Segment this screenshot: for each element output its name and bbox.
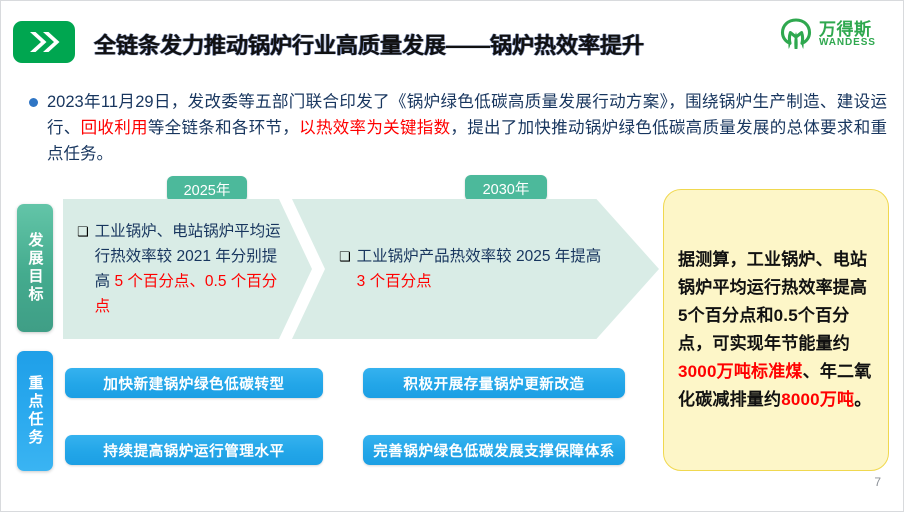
- timeline-stage-2025-text: 工业锅炉、电站锅炉平均运行热效率较 2021 年分别提高 5 个百分点、0.5 …: [95, 219, 285, 319]
- section-tab-key-tasks: 重点任务: [17, 351, 53, 471]
- checkbox-square-icon: ❑: [77, 219, 89, 244]
- intro-paragraph: 2023年11月29日，发改委等五部门联合印发了《锅炉绿色低碳高质量发展行动方案…: [47, 89, 887, 167]
- checkbox-square-icon: ❑: [339, 244, 351, 269]
- logo-name-en: WANDESS: [819, 37, 876, 48]
- page-title: 全链条发力推动锅炉行业高质量发展——锅炉热效率提升: [94, 28, 644, 60]
- brand-logo: 万得斯 WANDESS: [773, 13, 891, 59]
- impact-callout-text: 据测算，工业锅炉、电站锅炉平均运行热效率提高5个百分点和0.5个百分点，可实现年…: [664, 246, 888, 414]
- section-tab-goal-label: 发展目标: [26, 232, 45, 304]
- wandess-leaf-logo-icon: [777, 16, 815, 54]
- bullet-dot-icon: [29, 98, 38, 107]
- task-pill-2[interactable]: 积极开展存量锅炉更新改造: [363, 368, 625, 398]
- section-tab-task-label: 重点任务: [26, 375, 45, 447]
- timeline-arrow-banner: ❑ 工业锅炉、电站锅炉平均运行热效率较 2021 年分别提高 5 个百分点、0.…: [63, 199, 659, 339]
- timeline-stage-2030: ❑ 工业锅炉产品热效率较 2025 年提高 3 个百分点: [325, 199, 615, 339]
- task-pill-3[interactable]: 持续提高锅炉运行管理水平: [65, 435, 323, 465]
- footer-divider: [1, 505, 904, 511]
- slide-canvas: 全链条发力推动锅炉行业高质量发展——锅炉热效率提升 万得斯 WANDESS 20…: [0, 0, 904, 512]
- slide-header: 全链条发力推动锅炉行业高质量发展——锅炉热效率提升 万得斯 WANDESS: [1, 1, 904, 77]
- timeline-stage-2025: ❑ 工业锅炉、电站锅炉平均运行热效率较 2021 年分别提高 5 个百分点、0.…: [63, 199, 295, 339]
- task-pill-1[interactable]: 加快新建锅炉绿色低碳转型: [65, 368, 323, 398]
- timeline-stage-2030-text: 工业锅炉产品热效率较 2025 年提高 3 个百分点: [357, 244, 605, 294]
- task-pill-4[interactable]: 完善锅炉绿色低碳发展支撑保障体系: [363, 435, 625, 465]
- impact-callout-box: 据测算，工业锅炉、电站锅炉平均运行热效率提高5个百分点和0.5个百分点，可实现年…: [663, 189, 889, 471]
- year-badge-2030: 2030年: [465, 175, 547, 201]
- page-number: 7: [874, 475, 881, 489]
- double-chevron-right-icon: [13, 21, 75, 63]
- section-tab-development-goal: 发展目标: [17, 204, 53, 332]
